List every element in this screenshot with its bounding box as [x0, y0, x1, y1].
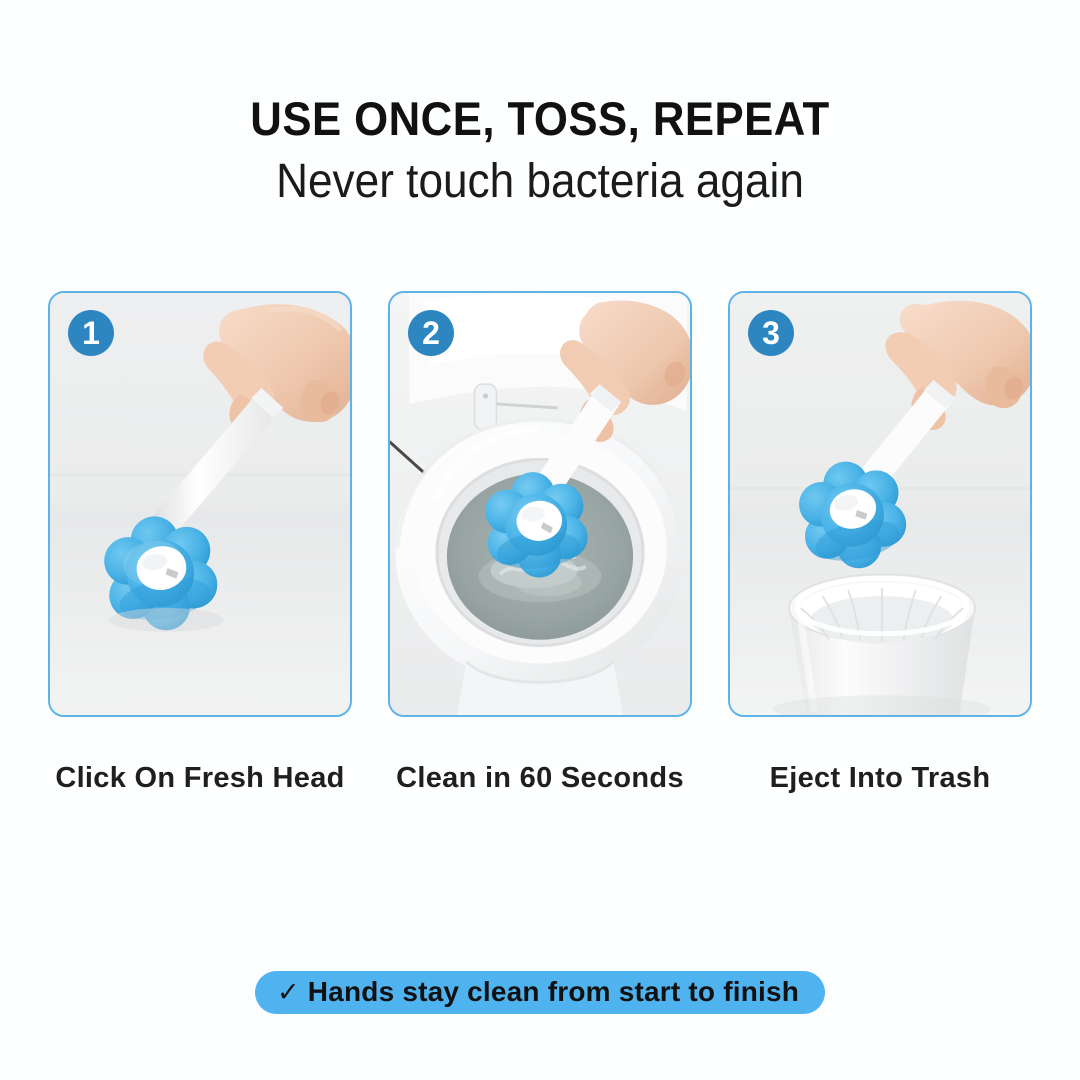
step-1-photo — [50, 293, 350, 715]
step-2-photo — [390, 293, 690, 715]
footer: ✓Hands stay clean from start to finish — [0, 971, 1080, 1014]
step-caption-1: Click On Fresh Head — [48, 757, 352, 799]
step-badge-2: 2 — [408, 310, 454, 356]
assurance-text: Hands stay clean from start to finish — [308, 976, 799, 1007]
header: USE ONCE, TOSS, REPEAT Never touch bacte… — [0, 95, 1080, 206]
step-badge-1: 1 — [68, 310, 114, 356]
step-caption-3: Eject Into Trash — [728, 757, 1032, 799]
step-caption-2: Clean in 60 Seconds — [388, 757, 692, 799]
step-badge-3: 3 — [748, 310, 794, 356]
step-card-2[interactable]: 2 — [388, 291, 692, 717]
check-icon: ✓ — [277, 977, 300, 1007]
step-card-1[interactable]: 1 — [48, 291, 352, 717]
assurance-badge: ✓Hands stay clean from start to finish — [255, 971, 825, 1014]
trash-can — [789, 574, 975, 715]
page-subtitle: Never touch bacteria again — [43, 158, 1037, 206]
step-card-3[interactable]: 3 — [728, 291, 1032, 717]
steps-row: 1 — [48, 291, 1032, 717]
step-3-photo — [730, 293, 1030, 715]
page-title: USE ONCE, TOSS, REPEAT — [38, 95, 1042, 142]
captions-row: Click On Fresh Head Clean in 60 Seconds … — [48, 757, 1032, 799]
